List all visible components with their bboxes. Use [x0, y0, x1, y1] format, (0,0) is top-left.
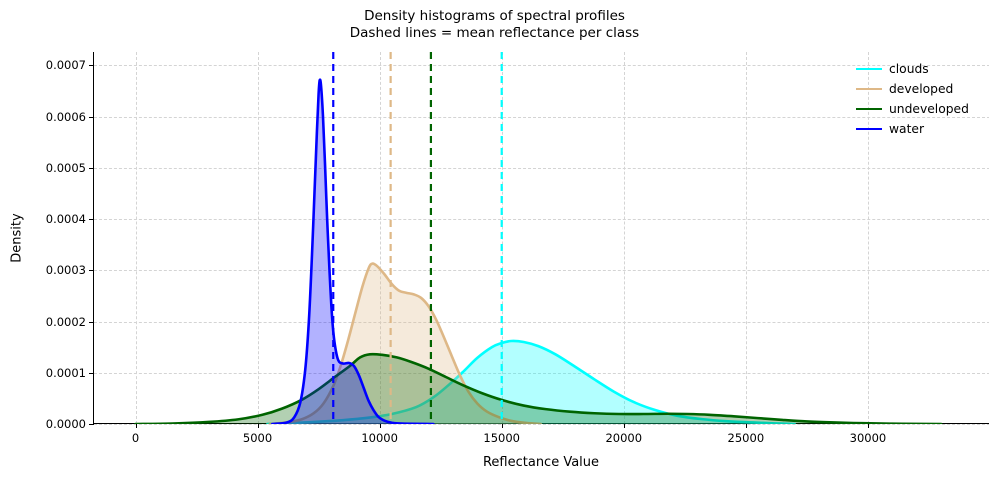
y-axis-tick-label: 0.0006: [46, 110, 86, 124]
legend-item-water[interactable]: water: [856, 120, 969, 138]
legend-item-developed[interactable]: developed: [856, 80, 969, 98]
chart-title-line-1: Density histograms of spectral profiles: [0, 8, 989, 25]
x-axis-tick-label: 15000: [483, 431, 520, 445]
legend-item-undeveloped[interactable]: undeveloped: [856, 100, 969, 118]
y-axis-tick-label: 0.0007: [46, 58, 86, 72]
x-axis-tick-label: 20000: [605, 431, 642, 445]
x-axis-tick-label: 30000: [850, 431, 887, 445]
legend-swatch-clouds-icon: [856, 68, 882, 70]
legend-label: clouds: [889, 62, 929, 76]
y-axis-tick-label: 0.0003: [46, 263, 86, 277]
legend-label: developed: [889, 82, 953, 96]
x-axis-tick-label: 25000: [728, 431, 765, 445]
x-axis-tick-label: 0: [132, 431, 139, 445]
chart-title-subtitle: Dashed lines = mean reflectance per clas…: [0, 25, 989, 42]
chart-title: Density histograms of spectral profiles …: [0, 8, 989, 42]
legend-swatch-undeveloped-icon: [856, 108, 882, 110]
density-histogram-figure: Density histograms of spectral profiles …: [0, 0, 989, 489]
legend-swatch-developed-icon: [856, 88, 882, 90]
legend-label: undeveloped: [889, 102, 969, 116]
y-axis-tick: [89, 424, 94, 425]
y-axis-tick-label: 0.0004: [46, 212, 86, 226]
y-axis-tick-label: 0.0001: [46, 366, 86, 380]
legend-label: water: [889, 122, 924, 136]
x-axis-tick-label: 5000: [243, 431, 272, 445]
legend-item-clouds[interactable]: clouds: [856, 60, 969, 78]
y-axis-label: Density: [10, 138, 25, 338]
y-axis-tick-label: 0.0005: [46, 161, 86, 175]
x-axis-tick-label: 10000: [361, 431, 398, 445]
chart-legend: cloudsdevelopedundevelopedwater: [852, 58, 973, 140]
legend-swatch-water-icon: [856, 128, 882, 130]
x-axis-label: Reflectance Value: [93, 455, 989, 470]
gridline-horizontal: [94, 424, 989, 425]
y-axis-tick-label: 0.0000: [46, 417, 86, 431]
y-axis-tick-label: 0.0002: [46, 315, 86, 329]
